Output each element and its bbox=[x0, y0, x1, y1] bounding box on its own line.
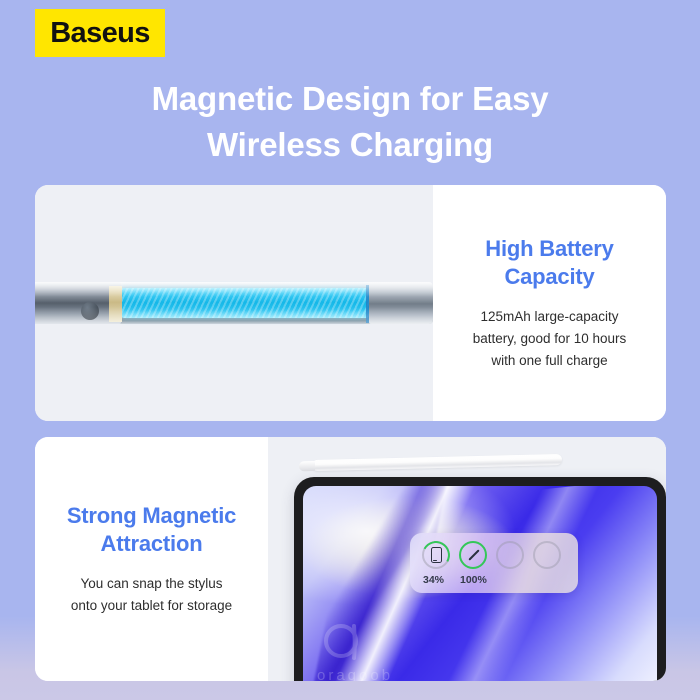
stylus-glass-highlight bbox=[35, 282, 433, 324]
tablet-battery-value: 34% bbox=[423, 574, 460, 586]
battery-body-line-2: battery, good for 10 hours bbox=[473, 328, 627, 350]
stylus-pen bbox=[312, 454, 562, 471]
magnet-title-line-1: Strong Magnetic bbox=[67, 503, 236, 528]
tablet-scene: oraqoob bbox=[268, 437, 666, 681]
magnet-feature-body: You can snap the stylus onto your tablet… bbox=[71, 573, 232, 617]
battery-title-line-2: Capacity bbox=[485, 263, 613, 292]
charging-slots bbox=[410, 541, 578, 569]
charging-values: 34% 100% bbox=[410, 574, 578, 586]
battery-text-panel: High Battery Capacity 125mAh large-capac… bbox=[433, 185, 666, 421]
tablet-icon bbox=[431, 547, 442, 563]
charging-slot-empty-2[interactable] bbox=[533, 541, 561, 569]
headline-line-2: Wireless Charging bbox=[0, 122, 700, 168]
watermark-text: oraqoob bbox=[317, 667, 393, 681]
charging-slot-tablet[interactable] bbox=[422, 541, 450, 569]
battery-body-line-3: with one full charge bbox=[473, 350, 627, 372]
magnet-feature-title: Strong Magnetic Attraction bbox=[67, 502, 236, 559]
stylus-illustration bbox=[35, 274, 433, 332]
feature-card-magnet: Strong Magnetic Attraction You can snap … bbox=[35, 437, 666, 681]
charging-slot-empty-1[interactable] bbox=[496, 541, 524, 569]
magnet-title-line-2: Attraction bbox=[67, 530, 236, 559]
page-title: Magnetic Design for Easy Wireless Chargi… bbox=[0, 76, 700, 167]
battery-feature-title: High Battery Capacity bbox=[485, 235, 613, 292]
stylus-battery-value: 100% bbox=[460, 574, 487, 586]
stylus-icon bbox=[466, 548, 481, 563]
tablet-device: oraqoob bbox=[294, 477, 666, 681]
brand-logo: Baseus bbox=[35, 9, 165, 57]
brand-logo-text: Baseus bbox=[50, 17, 150, 50]
battery-body-line-1: 125mAh large-capacity bbox=[473, 306, 627, 328]
watermark-glyph-icon bbox=[321, 616, 375, 666]
magnet-body-line-1: You can snap the stylus bbox=[71, 573, 232, 595]
battery-feature-body: 125mAh large-capacity battery, good for … bbox=[473, 306, 627, 372]
magnet-body-line-2: onto your tablet for storage bbox=[71, 595, 232, 617]
stylus-product-image bbox=[35, 185, 433, 421]
feature-card-battery: High Battery Capacity 125mAh large-capac… bbox=[35, 185, 666, 421]
promo-page: Baseus Magnetic Design for Easy Wireless… bbox=[0, 0, 700, 700]
charging-status-widget[interactable]: 34% 100% bbox=[410, 533, 578, 593]
tablet-screen: oraqoob bbox=[303, 486, 657, 681]
charging-slot-stylus[interactable] bbox=[459, 541, 487, 569]
magnet-text-panel: Strong Magnetic Attraction You can snap … bbox=[35, 437, 268, 681]
tablet-product-image: oraqoob bbox=[268, 437, 666, 681]
headline-line-1: Magnetic Design for Easy bbox=[0, 76, 700, 122]
battery-title-line-1: High Battery bbox=[485, 236, 613, 261]
